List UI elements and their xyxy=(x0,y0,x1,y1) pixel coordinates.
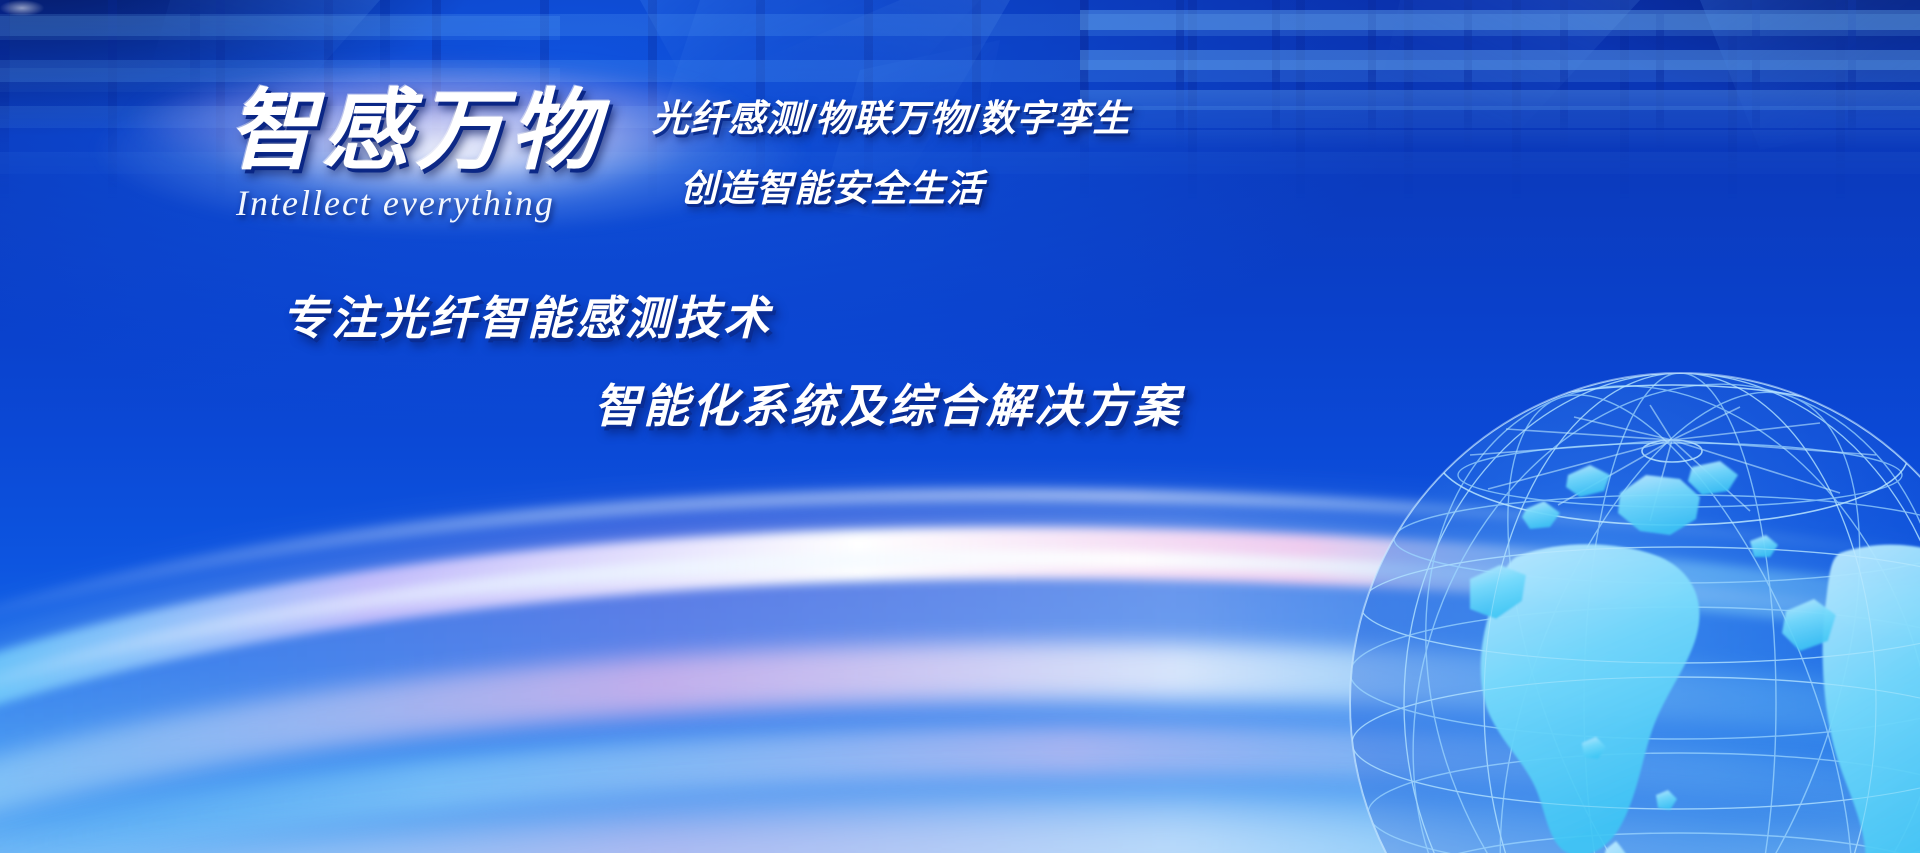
lens-flare-icon xyxy=(0,0,44,16)
tagline-line-1: 光纤感测/物联万物/数字孪生 xyxy=(652,88,1232,142)
headline-subtitle-english: Intellect everything xyxy=(236,182,648,224)
page-title: 智感万物 xyxy=(228,86,648,176)
tagline-line-2: 创造智能安全生活 xyxy=(680,158,1232,212)
slogan-block: 专注光纤智能感测技术 智能化系统及综合解决方案 xyxy=(282,282,1242,436)
headline-block: 智感万物 Intellect everything xyxy=(228,86,648,224)
slogan-line-1: 专注光纤智能感测技术 xyxy=(282,282,1242,348)
slogan-line-2: 智能化系统及综合解决方案 xyxy=(594,370,1242,436)
promotional-banner: 智感万物 Intellect everything 光纤感测/物联万物/数字孪生… xyxy=(0,0,1920,853)
tagline-block: 光纤感测/物联万物/数字孪生 创造智能安全生活 xyxy=(652,88,1232,212)
